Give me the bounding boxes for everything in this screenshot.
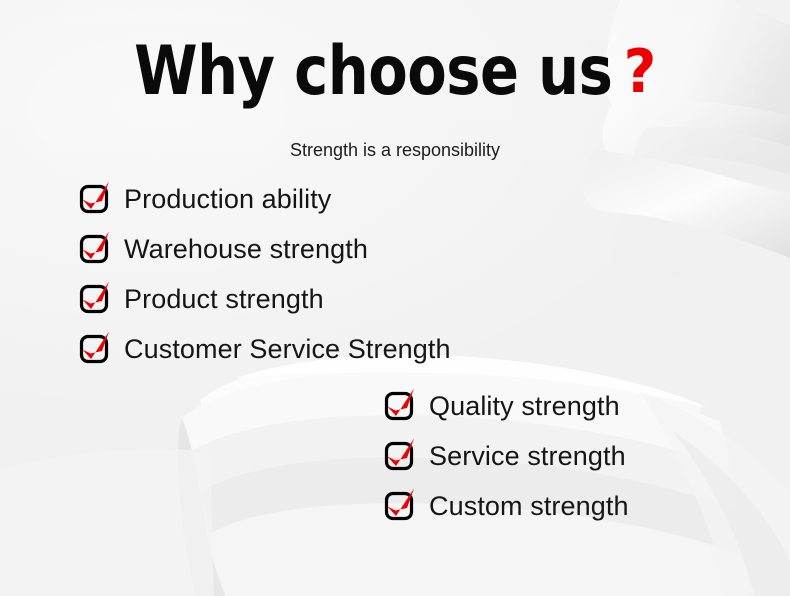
checklist-primary-strengths: Production ability Warehouse strength (78, 174, 451, 374)
checked-checkbox-icon (383, 441, 415, 471)
list-item-label: Service strength (429, 441, 626, 471)
checked-checkbox-icon (78, 334, 110, 364)
list-item: Warehouse strength (78, 224, 451, 274)
page-title: Why choose us? (24, 38, 767, 106)
list-item-label: Production ability (124, 184, 331, 214)
list-item: Product strength (78, 274, 451, 324)
list-item-label: Warehouse strength (124, 234, 368, 264)
checked-checkbox-icon (383, 391, 415, 421)
banner-content: Why choose us? Strength is a responsibil… (0, 0, 790, 596)
list-item-label: Product strength (124, 284, 324, 314)
list-item: Service strength (383, 431, 629, 481)
why-choose-us-banner: Why choose us? Strength is a responsibil… (0, 0, 790, 596)
list-item: Production ability (78, 174, 451, 224)
checklist-secondary-strengths: Quality strength Service strength (383, 381, 629, 531)
page-title-text: Why choose us (134, 32, 612, 111)
checked-checkbox-icon (383, 491, 415, 521)
list-item: Quality strength (383, 381, 629, 431)
list-item-label: Custom strength (429, 491, 629, 521)
checked-checkbox-icon (78, 284, 110, 314)
question-mark-glyph: ? (624, 37, 656, 107)
list-item: Custom strength (383, 481, 629, 531)
checked-checkbox-icon (78, 234, 110, 264)
page-subtitle: Strength is a responsibility (0, 139, 790, 161)
list-item: Customer Service Strength (78, 324, 451, 374)
list-item-label: Customer Service Strength (124, 334, 451, 364)
checked-checkbox-icon (78, 184, 110, 214)
list-item-label: Quality strength (429, 391, 620, 421)
